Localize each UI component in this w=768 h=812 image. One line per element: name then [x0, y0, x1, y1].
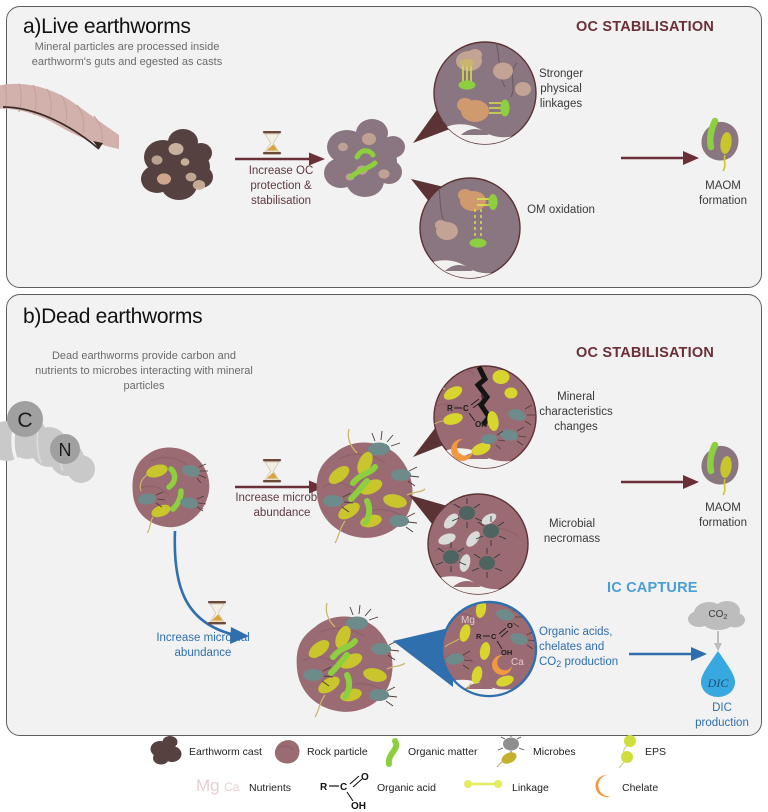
- panel-a-title: a)Live earthworms: [23, 15, 191, 39]
- maom-particle-b: [693, 437, 749, 499]
- live-earthworm-illustration: [0, 83, 149, 153]
- microbes-icon: [495, 736, 531, 768]
- maom-particle-a: [693, 113, 749, 175]
- panel-b-stage-label-ic: IC CAPTURE: [607, 580, 698, 596]
- co2-to-dic-illustration: CO2 DIC: [685, 595, 757, 701]
- panel-b-caption: Dead earthworms provide carbon and nutri…: [35, 349, 253, 394]
- panel-a-index: a): [23, 15, 41, 38]
- dic-droplet-label: DIC: [707, 676, 730, 690]
- dead-earthworm-illustration: C N: [0, 399, 129, 495]
- panel-b-stage-label-oc: OC STABILISATION: [576, 345, 714, 361]
- svg-text:OH: OH: [475, 420, 487, 429]
- legend: Earthworm cast Rock particle Organic mat…: [0, 736, 768, 812]
- legend-label-microbes: Microbes: [533, 746, 576, 758]
- svg-text:O: O: [507, 621, 513, 630]
- svg-text:C: C: [491, 632, 497, 641]
- panel-dead-earthworms: b)Dead earthworms OC STABILISATION IC CA…: [6, 294, 762, 736]
- svg-text:O: O: [361, 772, 369, 783]
- legend-label-chelate: Chelate: [622, 782, 658, 794]
- zoom-circle-om-oxidation: [417, 175, 523, 281]
- panel-b-title: b)Dead earthworms: [23, 305, 202, 329]
- svg-text:R: R: [476, 632, 482, 641]
- svg-text:C: C: [340, 782, 347, 793]
- legend-label-nutrients: Nutrients: [249, 782, 291, 794]
- figure-canvas: a)Live earthworms OC STABILISATION Miner…: [0, 0, 768, 812]
- zoom-circle-ic-capture: R C O OH Mg Ca: [439, 599, 539, 699]
- legend-label-eps: EPS: [645, 746, 666, 758]
- output-label-maom-a: MAOM formation: [691, 179, 755, 209]
- rock-particle-with-microbes-b: [125, 441, 219, 537]
- hourglass-icon: [263, 131, 281, 154]
- svg-text:R: R: [320, 782, 328, 793]
- zoom-label-ic-line3: CO2 production: [539, 655, 637, 672]
- nutrients-icon-ca: Ca: [224, 780, 239, 794]
- colonised-aggregate-b-bottom: [285, 601, 405, 717]
- panel-a-stage-label: OC STABILISATION: [576, 19, 714, 35]
- panel-a-caption: Mineral particles are processed inside e…: [27, 40, 227, 70]
- zoom-label-stronger-linkages: Stronger physical linkages: [523, 67, 599, 112]
- output-label-dic: DIC production: [685, 701, 759, 731]
- arrow-label-increase-oc: Increase OC protection & stabilisation: [231, 164, 331, 209]
- panel-b-title-text: Dead earthworms: [41, 305, 202, 328]
- svg-text:C: C: [463, 404, 469, 413]
- dic-droplet-icon: [701, 651, 735, 697]
- organic-matter-icon: [380, 738, 404, 766]
- zoom-label-om-oxidation: OM oxidation: [525, 203, 597, 218]
- zoom-label-ic-line1: Organic acids,: [539, 625, 637, 640]
- svg-text:O: O: [481, 392, 487, 401]
- eps-icon: [615, 736, 641, 768]
- nutrients-icon-mg: Mg: [196, 776, 220, 795]
- legend-label-linkage: Linkage: [512, 782, 549, 794]
- arrow-label-increase-microbial-bottom: Increase microbial abundance: [155, 631, 251, 661]
- panel-a-title-text: Live earthworms: [41, 15, 191, 38]
- zoom-circle-microbial-necromass: [425, 491, 531, 597]
- zoom-label-microbial-necromass: Microbial necromass: [535, 517, 609, 547]
- nutrients-icon: Mg Ca: [196, 776, 239, 796]
- rock-particle-icon: [272, 738, 302, 766]
- arrow-to-maom-a: [619, 147, 703, 169]
- svg-text:OH: OH: [351, 801, 366, 812]
- nutrient-badge-c-label: C: [17, 409, 32, 432]
- legend-label-earthworm-cast: Earthworm cast: [189, 746, 262, 758]
- svg-text:OH: OH: [501, 648, 512, 657]
- processed-aggregate-a: [317, 117, 417, 209]
- zoom-circle-mineral-changes: R C O OH: [431, 363, 539, 471]
- hourglass-icon: [263, 459, 281, 482]
- chelate-icon: [592, 772, 618, 800]
- zoom-label-ic-line2: chelates and: [539, 640, 637, 655]
- ion-label-mg: Mg: [461, 615, 475, 626]
- arrow-to-maom-b: [619, 471, 703, 493]
- output-label-maom-b: MAOM formation: [691, 501, 755, 531]
- earthworm-cast-illustration: [133, 127, 225, 205]
- panel-live-earthworms: a)Live earthworms OC STABILISATION Miner…: [6, 6, 762, 288]
- zoom-label-ic-capture: Organic acids, chelates and CO2 producti…: [539, 625, 637, 672]
- hourglass-icon-blue-branch: [204, 599, 230, 631]
- zoom-label-mineral-changes: Mineral characteristics changes: [537, 390, 615, 435]
- legend-label-organic-acid: Organic acid: [377, 782, 436, 794]
- ion-label-ca: Ca: [511, 657, 524, 668]
- legend-label-rock-particle: Rock particle: [307, 746, 368, 758]
- svg-text:R: R: [447, 404, 453, 413]
- panel-b-index: b): [23, 305, 41, 328]
- earthworm-cast-icon: [150, 736, 184, 766]
- legend-label-organic-matter: Organic matter: [408, 746, 477, 758]
- linkage-icon: [463, 776, 505, 792]
- nutrient-badge-n-label: N: [59, 440, 72, 460]
- organic-acid-icon: R C O OH: [318, 772, 374, 810]
